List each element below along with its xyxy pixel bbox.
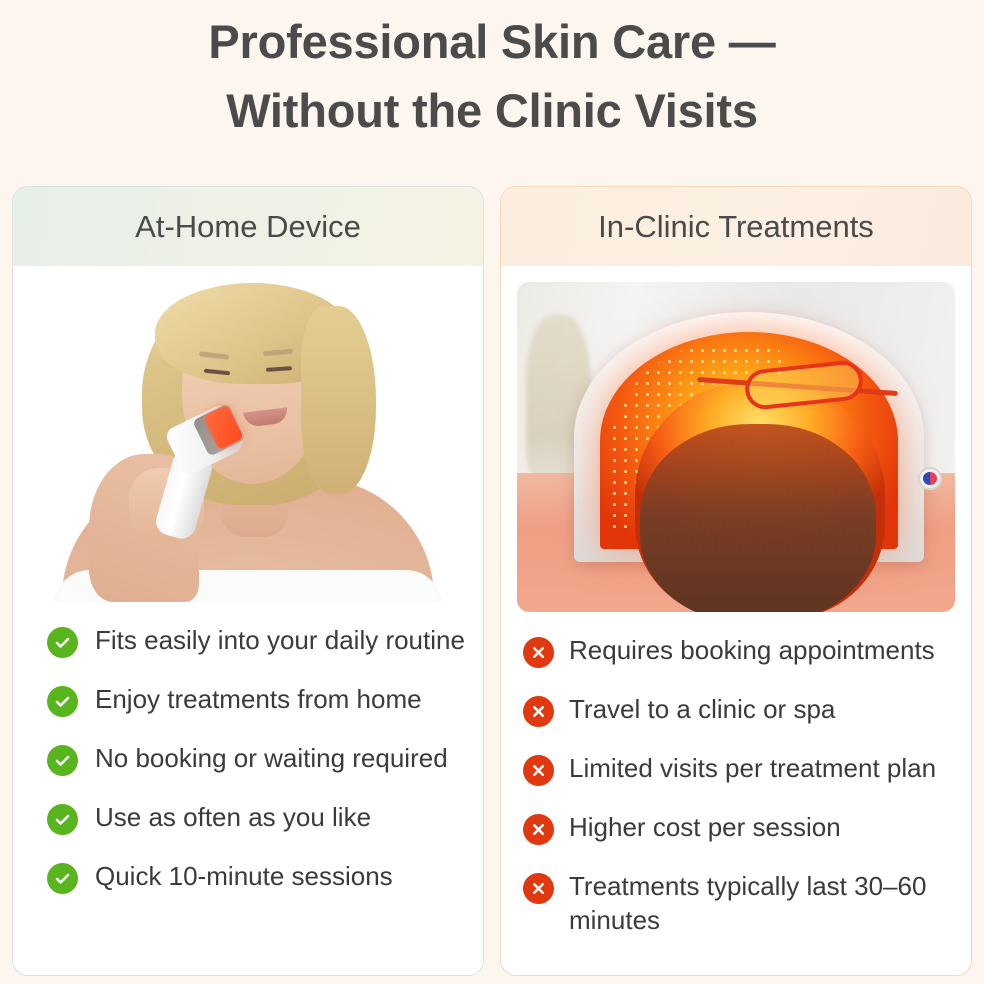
comparison-cards: At-Home Device [12, 186, 972, 976]
card-in-clinic-treatments: In-Clinic Treatments [500, 186, 972, 976]
led-light-therapy-photo [517, 282, 955, 612]
comparison-infographic: Professional Skin Care — Without the Cli… [0, 0, 984, 984]
check-circle-icon [47, 627, 78, 658]
list-item-label: Limited visits per treatment plan [569, 752, 936, 786]
device-control-knob [918, 467, 942, 490]
list-item: Fits easily into your daily routine [47, 624, 471, 658]
list-item-label: Enjoy treatments from home [95, 683, 422, 717]
card-title-at-home-device: At-Home Device [13, 187, 483, 266]
list-item: Requires booking appointments [523, 634, 959, 668]
list-item-label: Treatments typically last 30–60 minutes [569, 870, 959, 938]
in-clinic-treatment-image [517, 282, 955, 612]
at-home-device-image [27, 266, 469, 602]
feature-list-at-home-device: Fits easily into your daily routine Enjo… [13, 602, 483, 919]
feature-list-in-clinic-treatments: Requires booking appointments Travel to … [501, 612, 971, 963]
check-circle-icon [47, 863, 78, 894]
cross-circle-icon [523, 873, 554, 904]
page-title: Professional Skin Care — Without the Cli… [0, 8, 984, 145]
woman-using-device-illustration [27, 266, 469, 602]
card-body-at-home-device: Fits easily into your daily routine Enjo… [13, 266, 483, 975]
check-circle-icon [47, 686, 78, 717]
cross-circle-icon [523, 696, 554, 727]
list-item-label: Quick 10-minute sessions [95, 860, 393, 894]
list-item: Higher cost per session [523, 811, 959, 845]
list-item-label: Travel to a clinic or spa [569, 693, 835, 727]
list-item: Limited visits per treatment plan [523, 752, 959, 786]
check-circle-icon [47, 745, 78, 776]
cross-circle-icon [523, 637, 554, 668]
card-at-home-device: At-Home Device [12, 186, 484, 976]
list-item: Use as often as you like [47, 801, 471, 835]
list-item: No booking or waiting required [47, 742, 471, 776]
list-item-label: Use as often as you like [95, 801, 371, 835]
cross-circle-icon [523, 755, 554, 786]
list-item-label: Requires booking appointments [569, 634, 935, 668]
list-item-label: Higher cost per session [569, 811, 841, 845]
cross-circle-icon [523, 814, 554, 845]
list-item: Enjoy treatments from home [47, 683, 471, 717]
hair-shape [640, 424, 877, 612]
list-item-label: No booking or waiting required [95, 742, 448, 776]
hair-side-shape [301, 306, 376, 494]
list-item-label: Fits easily into your daily routine [95, 624, 465, 658]
card-title-in-clinic-treatments: In-Clinic Treatments [501, 187, 971, 266]
card-body-in-clinic-treatments: Requires booking appointments Travel to … [501, 266, 971, 975]
list-item: Travel to a clinic or spa [523, 693, 959, 727]
check-circle-icon [47, 804, 78, 835]
list-item: Treatments typically last 30–60 minutes [523, 870, 959, 938]
list-item: Quick 10-minute sessions [47, 860, 471, 894]
